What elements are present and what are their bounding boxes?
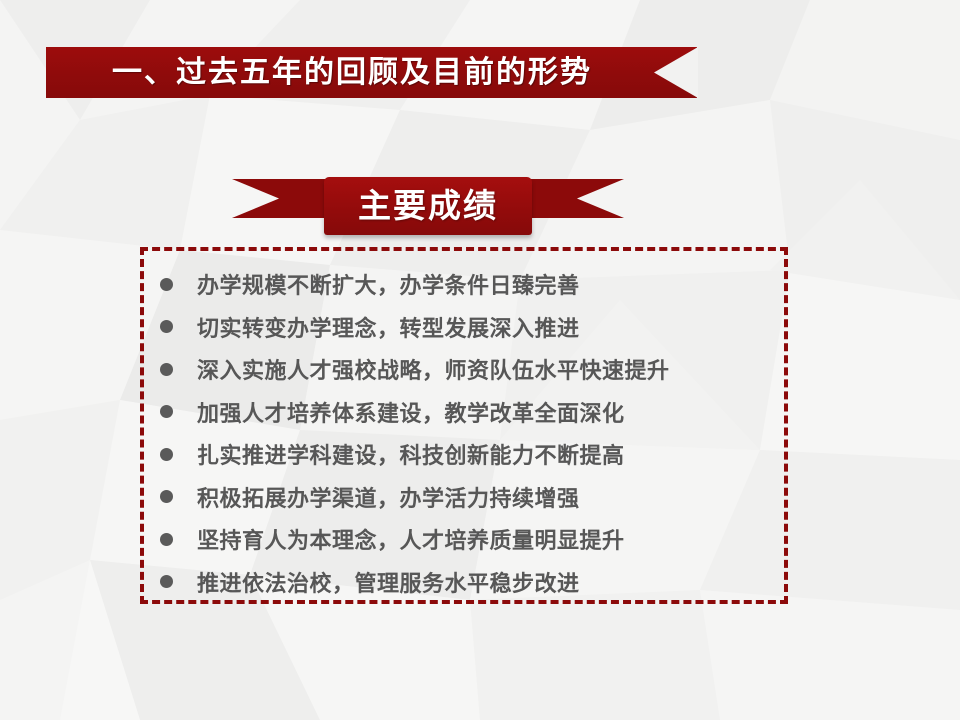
list-item: 推进依法治校，管理服务水平稳步改进 xyxy=(144,561,784,604)
list-item: 扎实推进学科建设，科技创新能力不断提高 xyxy=(144,433,784,476)
bullet-dot-icon xyxy=(160,363,173,376)
list-item: 积极拓展办学渠道，办学活力持续增强 xyxy=(144,476,784,519)
list-item-label: 积极拓展办学渠道，办学活力持续增强 xyxy=(197,481,784,513)
list-item-label: 深入实施人才强校战略，师资队伍水平快速提升 xyxy=(197,353,784,385)
list-item: 坚持育人为本理念，人才培养质量明显提升 xyxy=(144,518,784,561)
bullet-dot-icon xyxy=(160,448,173,461)
bullet-dot-icon xyxy=(160,575,173,588)
presentation-slide: 一、过去五年的回顾及目前的形势 主要成绩 办学规模不断扩大，办学条件日臻完善 切… xyxy=(0,0,960,720)
bullet-dot-icon xyxy=(160,278,173,291)
section-title-banner: 一、过去五年的回顾及目前的形势 xyxy=(46,47,697,98)
achievements-dashed-box: 办学规模不断扩大，办学条件日臻完善 切实转变办学理念，转型发展深入推进 深入实施… xyxy=(140,247,788,604)
list-item-label: 推进依法治校，管理服务水平稳步改进 xyxy=(197,566,784,598)
bullet-dot-icon xyxy=(160,405,173,418)
section-title-text: 一、过去五年的回顾及目前的形势 xyxy=(46,47,658,98)
list-item-label: 加强人才培养体系建设，教学改革全面深化 xyxy=(197,396,784,428)
bullet-dot-icon xyxy=(160,533,173,546)
list-item: 深入实施人才强校战略，师资队伍水平快速提升 xyxy=(144,348,784,391)
achievements-list: 办学规模不断扩大，办学条件日臻完善 切实转变办学理念，转型发展深入推进 深入实施… xyxy=(144,251,784,600)
bullet-dot-icon xyxy=(160,490,173,503)
list-item-label: 坚持育人为本理念，人才培养质量明显提升 xyxy=(197,523,784,555)
ribbon-heading: 主要成绩 xyxy=(232,177,624,239)
list-item: 加强人才培养体系建设，教学改革全面深化 xyxy=(144,391,784,434)
bullet-dot-icon xyxy=(160,320,173,333)
list-item: 切实转变办学理念，转型发展深入推进 xyxy=(144,306,784,349)
list-item: 办学规模不断扩大，办学条件日臻完善 xyxy=(144,263,784,306)
list-item-label: 办学规模不断扩大，办学条件日臻完善 xyxy=(197,268,784,300)
list-item-label: 扎实推进学科建设，科技创新能力不断提高 xyxy=(197,438,784,470)
ribbon-heading-text: 主要成绩 xyxy=(324,177,532,235)
list-item-label: 切实转变办学理念，转型发展深入推进 xyxy=(197,311,784,343)
